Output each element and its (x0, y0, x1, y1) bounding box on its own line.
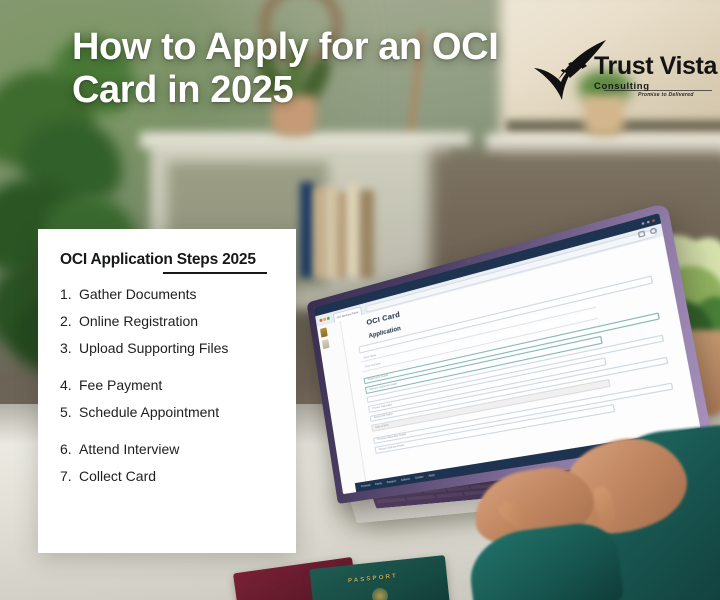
footer-nav-passport[interactable]: Passport (387, 480, 397, 485)
brand-divider (604, 90, 712, 91)
brand-logo-text: Trust Vista Consulting (594, 54, 717, 92)
step-label: Fee Payment (79, 378, 162, 392)
step-label: Online Registration (79, 314, 198, 328)
footer-nav-contact[interactable]: Contact (415, 475, 424, 479)
step-label: Collect Card (79, 469, 156, 483)
brand-name: Trust Vista (594, 54, 717, 79)
step-label: Upload Supporting Files (79, 341, 228, 355)
steps-card: OCI Application Steps 2025 1. Gather Doc… (38, 229, 296, 553)
step-number: 7. (60, 469, 79, 483)
step-number: 1. (60, 287, 79, 301)
book (348, 184, 360, 278)
footer-nav-personal[interactable]: Personal (361, 484, 371, 488)
poster-root: OCI Services Portal OCI Card (0, 0, 720, 600)
step-number: 6. (60, 442, 79, 456)
list-item: 3. Upload Supporting Files (60, 341, 276, 355)
footer-nav-family[interactable]: Family (375, 482, 382, 486)
list-item: 4. Fee Payment (60, 378, 276, 392)
steps-card-title-text: OCI Application Steps 2025 (60, 251, 256, 268)
list-item: 1. Gather Documents (60, 287, 276, 301)
step-number: 3. (60, 341, 79, 355)
maximize-icon[interactable] (647, 220, 650, 223)
page-title: How to Apply for an OCI Card in 2025 (72, 26, 542, 111)
step-number: 5. (60, 405, 79, 419)
footer-nav-address[interactable]: Address (401, 478, 410, 482)
webcam-icon (466, 258, 471, 263)
step-number: 2. (60, 314, 79, 328)
close-icon[interactable] (652, 219, 655, 222)
step-label: Schedule Appointment (79, 405, 219, 419)
minimize-icon[interactable] (641, 221, 644, 224)
list-item: 6. Attend Interview (60, 442, 276, 456)
steps-card-title-underline (163, 272, 267, 274)
list-item: 5. Schedule Appointment (60, 405, 276, 419)
book (314, 188, 325, 278)
steps-card-title: OCI Application Steps 2025 (60, 251, 256, 269)
brand-tagline: Promise to Delivered (638, 92, 694, 98)
steps-list: 1. Gather Documents 2. Online Registrati… (60, 287, 276, 483)
list-item: 7. Collect Card (60, 469, 276, 483)
book (338, 192, 348, 278)
step-label: Attend Interview (79, 442, 179, 456)
brand-logo: Trust Vista Consulting Promise to Delive… (530, 38, 710, 118)
book (360, 190, 374, 278)
traffic-light-icons[interactable] (319, 317, 329, 322)
step-number: 4. (60, 378, 79, 392)
step-label: Gather Documents (79, 287, 197, 301)
book (325, 186, 338, 278)
national-emblem-icon (320, 327, 328, 337)
book (300, 182, 314, 278)
ministry-seal-icon (322, 339, 330, 349)
footer-nav-apply[interactable]: Apply (428, 474, 435, 478)
list-item: 2. Online Registration (60, 314, 276, 328)
